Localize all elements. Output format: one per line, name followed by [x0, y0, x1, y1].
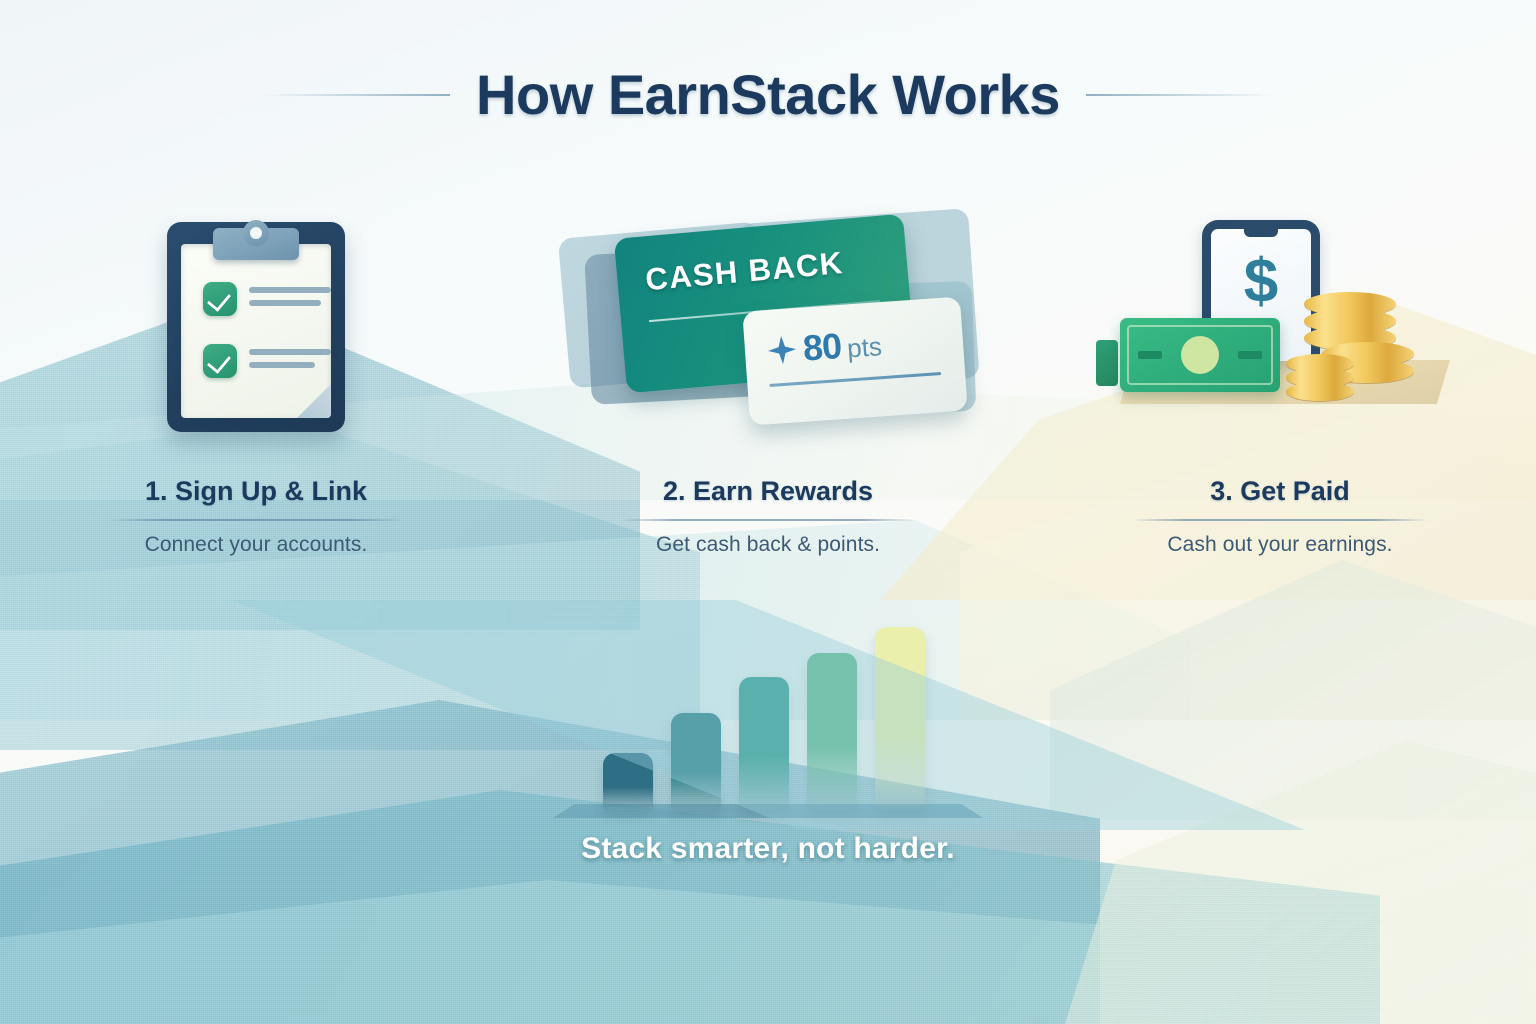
checklist-text-lines — [249, 282, 331, 306]
banknote-icon — [1120, 318, 1280, 392]
cards-graphic: CASH BACK 80 pts — [558, 210, 978, 440]
checkmark-icon — [203, 282, 237, 316]
checklist-text-lines — [249, 344, 331, 368]
clipboard-paper — [181, 244, 331, 418]
text-line — [249, 362, 315, 368]
points-card: 80 pts — [742, 297, 967, 426]
checkmark-icon — [203, 344, 237, 378]
coin-icon — [1286, 382, 1354, 401]
sparkle-icon — [766, 334, 798, 366]
banknote-edge — [1096, 340, 1118, 386]
points-value: 80 — [802, 325, 843, 370]
phone-notch — [1244, 229, 1278, 237]
growth-chart — [0, 600, 1536, 830]
step-card-1[interactable]: 1. Sign Up & Link Connect your accounts. — [0, 200, 512, 600]
step-title-1: 1. Sign Up & Link — [145, 476, 367, 507]
step-divider-2 — [623, 519, 913, 521]
text-line — [249, 287, 331, 293]
banknote-dash — [1238, 351, 1262, 359]
clipboard-icon — [0, 200, 512, 470]
chart-bars — [603, 610, 933, 810]
payout-icon: $ — [1024, 200, 1536, 470]
cash-back-label: CASH BACK — [644, 245, 845, 298]
chart-bar — [603, 753, 653, 810]
infographic-canvas: How EarnStack Works — [0, 0, 1536, 1024]
header-rule-right — [1086, 94, 1274, 96]
step-subtitle-3: Cash out your earnings. — [1167, 533, 1392, 557]
step-title-2: 2. Earn Rewards — [663, 476, 873, 507]
text-line — [249, 300, 321, 306]
clipboard-graphic — [167, 222, 345, 432]
chart-bar — [875, 627, 925, 810]
reward-cards-icon: CASH BACK 80 pts — [512, 200, 1024, 470]
step-divider-3 — [1135, 519, 1425, 521]
step-divider-1 — [111, 519, 401, 521]
chart-bar — [739, 677, 789, 810]
points-unit: pts — [846, 331, 883, 364]
step-card-3[interactable]: $ — [1024, 200, 1536, 600]
step-card-2[interactable]: CASH BACK 80 pts — [512, 200, 1024, 600]
checklist-row — [203, 344, 331, 378]
text-line — [249, 349, 331, 355]
dollar-sign-icon: $ — [1211, 251, 1311, 313]
clipboard-clip — [213, 228, 299, 260]
points-underline — [769, 372, 941, 387]
step-subtitle-2: Get cash back & points. — [656, 533, 880, 557]
tagline: Stack smarter, not harder. — [0, 832, 1536, 866]
page-title: How EarnStack Works — [476, 62, 1060, 127]
chart-bar — [807, 653, 857, 810]
clipboard-ring-icon — [243, 220, 269, 246]
banknote-dash — [1138, 351, 1162, 359]
paper-fold-corner — [297, 384, 331, 418]
steps-row: 1. Sign Up & Link Connect your accounts.… — [0, 200, 1536, 600]
payout-graphic: $ — [1110, 214, 1450, 434]
checklist-row — [203, 282, 331, 316]
step-subtitle-1: Connect your accounts. — [145, 533, 368, 557]
chart-bar — [671, 713, 721, 810]
header-rule-left — [262, 94, 450, 96]
step-title-3: 3. Get Paid — [1210, 476, 1350, 507]
points-row: 80 pts — [766, 322, 883, 372]
banknote-seal — [1181, 336, 1219, 374]
page-header: How EarnStack Works — [0, 62, 1536, 127]
